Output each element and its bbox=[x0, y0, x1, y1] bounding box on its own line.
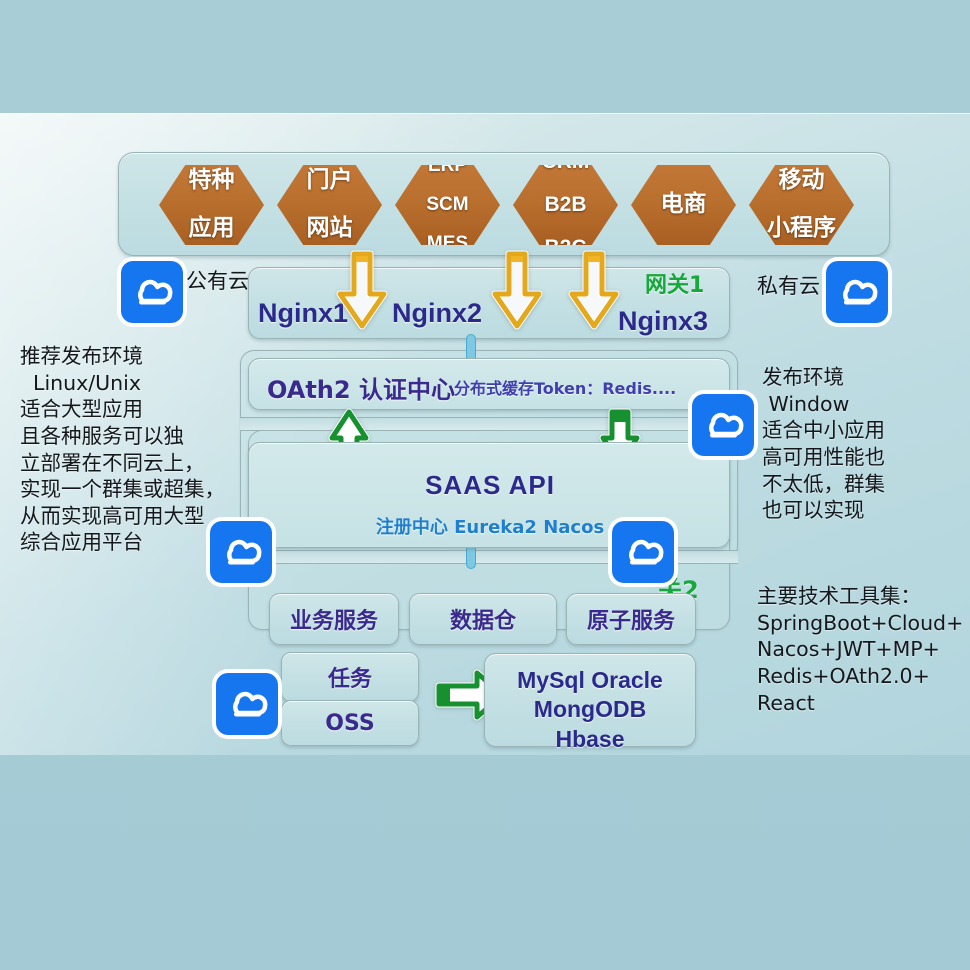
arrow-down-icon bbox=[568, 250, 620, 332]
oss-box[interactable]: OSS bbox=[281, 700, 419, 746]
application-layer: 特种应用 门户网站 ERPSCMMES CRMB2BB2C 电商 移动小程序 bbox=[118, 152, 890, 256]
public-cloud-label: 公有云 bbox=[186, 265, 249, 295]
nginx2-label[interactable]: Nginx2 bbox=[392, 298, 482, 329]
token-cache-label: 分布式缓存Token：Redis.... bbox=[454, 375, 676, 399]
app-hexagon-3-line1: B2B bbox=[538, 194, 594, 216]
app-hexagon-1-line1: 网站 bbox=[303, 217, 357, 241]
app-hexagon-4[interactable]: 电商 bbox=[631, 165, 736, 245]
cloud-icon bbox=[216, 673, 278, 735]
private-cloud-label: 私有云 bbox=[757, 270, 820, 300]
database-line3: Hbase bbox=[555, 726, 624, 752]
nginx1-label[interactable]: Nginx1 bbox=[258, 298, 348, 329]
task-box-label: 任务 bbox=[282, 653, 418, 701]
app-hexagon-0-line0: 特种 bbox=[185, 169, 239, 193]
app-hexagon-3-line0: CRM bbox=[538, 151, 594, 173]
arrow-down-icon bbox=[491, 250, 543, 332]
note-tech-stack: 主要技术工具集： SpringBoot+Cloud+ Nacos+JWT+MP+… bbox=[757, 583, 963, 716]
service-box-atomic-label: 原子服务 bbox=[587, 603, 675, 635]
oauth2-title: OAth2 认证中心 bbox=[267, 370, 455, 405]
service-box-datawarehouse-label: 数据仓 bbox=[450, 603, 516, 635]
oss-box-label: OSS bbox=[282, 701, 418, 745]
note-right-environment: 发布环境 Window 适合中小应用 高可用性能也 不太低，群集 也可以实现 bbox=[762, 364, 885, 524]
diagram-canvas: 特种应用 门户网站 ERPSCMMES CRMB2BB2C 电商 移动小程序 N… bbox=[0, 0, 970, 970]
database-line1: MySql Oracle bbox=[517, 667, 663, 693]
app-hexagon-3[interactable]: CRMB2BB2C bbox=[513, 165, 618, 245]
arrow-down-icon bbox=[336, 250, 388, 332]
note-left: 推荐发布环境 Linux/Unix 适合大型应用 且各种服务可以独 立部署在不同… bbox=[20, 343, 225, 556]
app-hexagon-5[interactable]: 移动小程序 bbox=[749, 165, 854, 245]
app-hexagon-0[interactable]: 特种应用 bbox=[159, 165, 264, 245]
task-box[interactable]: 任务 bbox=[281, 652, 419, 702]
service-box-datawarehouse[interactable]: 数据仓 bbox=[409, 593, 557, 645]
app-hexagon-2[interactable]: ERPSCMMES bbox=[395, 165, 500, 245]
auth-center-panel: OAth2 认证中心 分布式缓存Token：Redis.... bbox=[248, 358, 730, 410]
database-labels: MySql Oracle MongODB Hbase bbox=[485, 666, 695, 754]
cloud-icon bbox=[692, 394, 754, 456]
rail-auth bbox=[240, 417, 738, 431]
app-hexagon-2-line2: MES bbox=[422, 234, 472, 254]
service-box-business[interactable]: 业务服务 bbox=[269, 593, 399, 645]
app-hexagon-1[interactable]: 门户网站 bbox=[277, 165, 382, 245]
app-hexagon-5-line0: 移动 bbox=[763, 169, 840, 193]
app-hexagon-2-line1: SCM bbox=[422, 195, 472, 215]
cloud-icon bbox=[826, 261, 888, 323]
database-box[interactable]: MySql Oracle MongODB Hbase bbox=[484, 653, 696, 747]
app-hexagon-4-line0: 电商 bbox=[657, 193, 711, 217]
app-hexagon-2-line0: ERP bbox=[422, 156, 472, 176]
database-line2: MongODB bbox=[534, 696, 646, 722]
cloud-icon bbox=[612, 521, 674, 583]
gateway1-label: 网关1 bbox=[645, 267, 704, 299]
service-box-atomic[interactable]: 原子服务 bbox=[566, 593, 696, 645]
app-hexagon-5-line1: 小程序 bbox=[763, 217, 840, 241]
app-hexagon-0-line1: 应用 bbox=[185, 217, 239, 241]
nginx3-label[interactable]: Nginx3 bbox=[618, 306, 708, 337]
cloud-icon bbox=[121, 261, 183, 323]
app-hexagon-1-line0: 门户 bbox=[303, 169, 357, 193]
saas-api-title: SAAS API bbox=[249, 470, 731, 501]
service-box-business-label: 业务服务 bbox=[290, 603, 378, 635]
